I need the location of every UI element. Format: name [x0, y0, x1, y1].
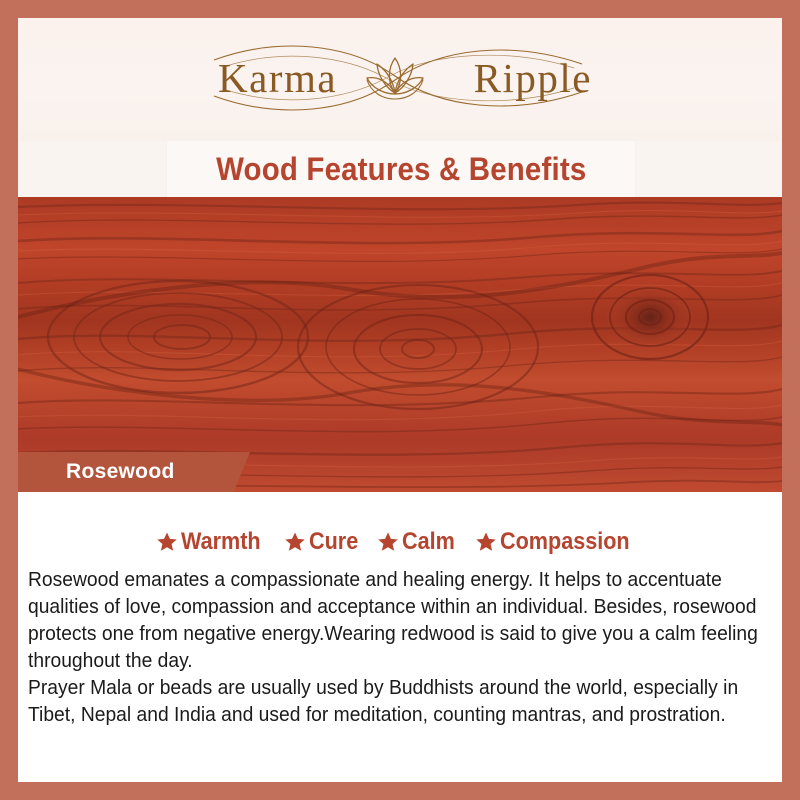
feature-label: Compassion [500, 528, 630, 556]
rosewood-photo [18, 197, 782, 492]
feature-label: Cure [309, 528, 358, 556]
wood-type-badge: Rosewood [18, 452, 250, 492]
infographic-card: Karma Ripple Wood Features & Benefits [0, 0, 800, 800]
star-icon [284, 531, 306, 553]
rosewood-grain-icon [18, 197, 782, 492]
brand-logo: Karma Ripple [190, 30, 610, 126]
description-paragraph-1: Rosewood emanates a compassionate and he… [28, 566, 769, 674]
wood-type-label: Rosewood [66, 460, 175, 484]
feature-item-calm: Calm [377, 528, 461, 556]
brand-name-left: Karma [218, 54, 337, 102]
description-block: Rosewood emanates a compassionate and he… [18, 556, 782, 728]
feature-label: Calm [402, 528, 455, 556]
feature-item-warmth: Warmth [156, 528, 269, 556]
feature-label: Warmth [181, 528, 261, 556]
brand-name-right: Ripple [474, 54, 592, 102]
brand-header: Karma Ripple [18, 18, 782, 141]
feature-item-compassion: Compassion [475, 528, 644, 556]
page-title: Wood Features & Benefits [216, 151, 586, 188]
star-icon [377, 531, 399, 553]
feature-list: Warmth Cure Calm [18, 492, 782, 556]
feature-item-cure: Cure [284, 528, 364, 556]
star-icon [156, 531, 178, 553]
page-title-band: Wood Features & Benefits [167, 141, 635, 197]
content-area: Warmth Cure Calm [18, 492, 782, 782]
star-icon [475, 531, 497, 553]
description-paragraph-2: Prayer Mala or beads are usually used by… [28, 674, 769, 728]
inner-panel: Karma Ripple Wood Features & Benefits [18, 18, 782, 782]
